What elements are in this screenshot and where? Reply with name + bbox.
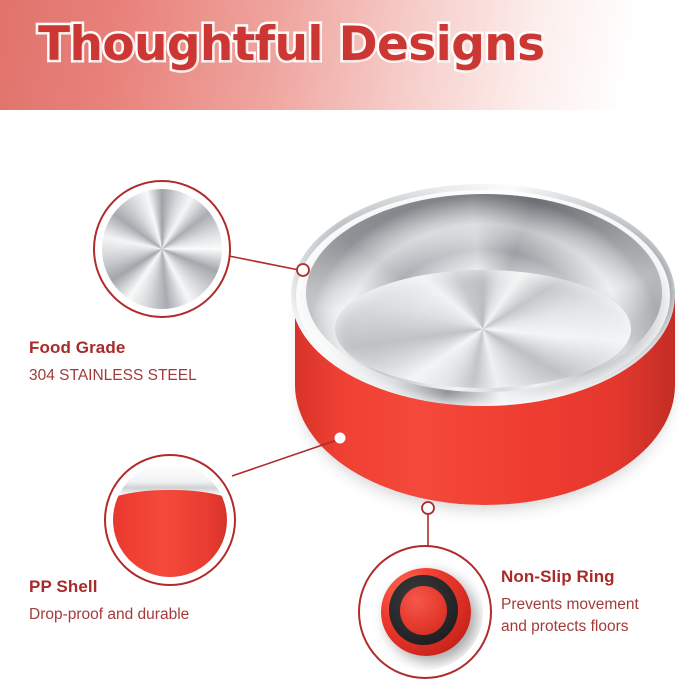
ring-red-center: [400, 586, 447, 635]
shell-red-surface: [113, 490, 227, 577]
feature-description-pp-shell: Drop-proof and durable: [29, 604, 189, 626]
bowl-interior-base-disc: [335, 270, 631, 388]
feature-description-non-slip-ring: Prevents movement and protects floors: [501, 594, 661, 639]
feature-label-pp-shell: PP Shell Drop-proof and durable: [29, 577, 189, 626]
callout-circle-food-grade: [93, 180, 231, 318]
feature-description-food-grade: 304 STAINLESS STEEL: [29, 365, 197, 387]
feature-label-food-grade: Food Grade 304 STAINLESS STEEL: [29, 338, 197, 387]
steel-disc-graphic: [102, 189, 222, 309]
callout-circle-pp-shell: [104, 454, 236, 586]
feature-title-pp-shell: PP Shell: [29, 577, 189, 597]
ring-black-rubber: [389, 575, 458, 646]
ring-closeup-graphic: [367, 554, 483, 670]
feature-title-food-grade: Food Grade: [29, 338, 197, 358]
ring-red-body: [381, 568, 471, 656]
page-title: Thoughtful Designs: [38, 17, 544, 72]
feature-label-non-slip-ring: Non-Slip Ring Prevents movement and prot…: [501, 567, 661, 639]
callout-circle-non-slip-ring: [358, 545, 492, 679]
feature-title-non-slip-ring: Non-Slip Ring: [501, 567, 661, 587]
shell-closeup-graphic: [113, 463, 227, 577]
header-banner: Thoughtful Designs: [0, 0, 679, 110]
